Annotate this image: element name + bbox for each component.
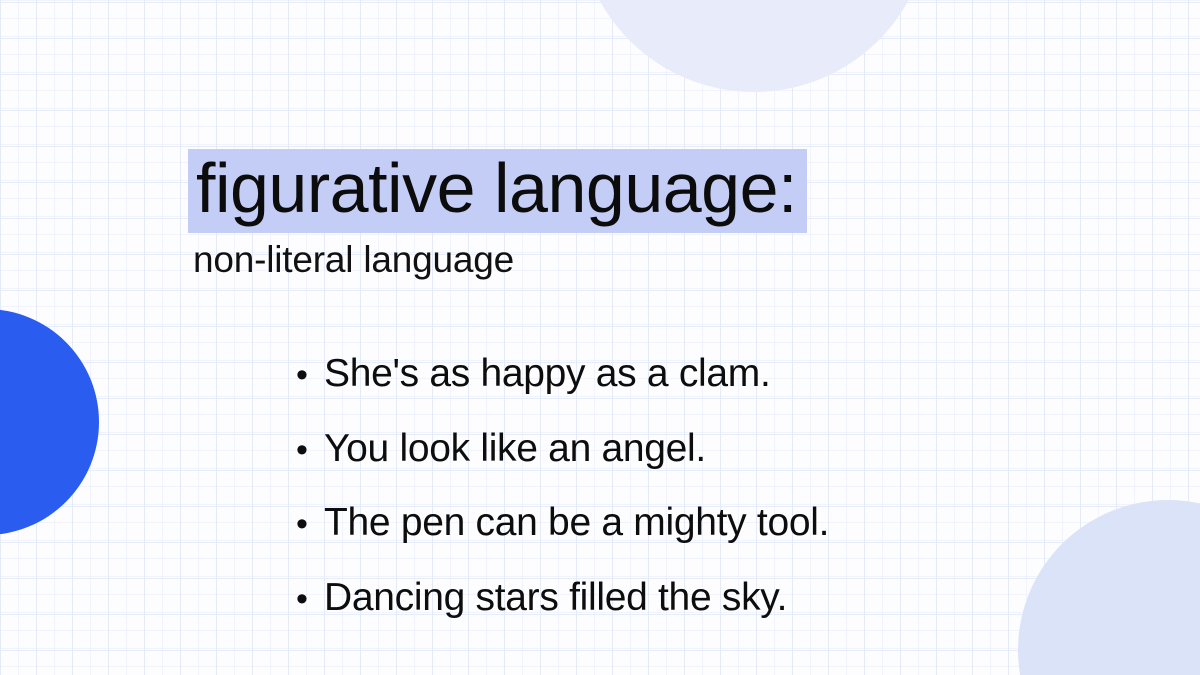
list-item: • Dancing stars filled the sky. [296, 578, 829, 653]
example-sentence-text: Dancing stars filled the sky. [324, 578, 787, 617]
bullet-point-icon: • [296, 582, 324, 616]
example-sentence-text: The pen can be a mighty tool. [324, 503, 829, 542]
list-item: • The pen can be a mighty tool. [296, 503, 829, 578]
example-sentence-list: • She's as happy as a clam. • You look l… [296, 354, 829, 652]
bullet-point-icon: • [296, 433, 324, 467]
example-sentence-text: She's as happy as a clam. [324, 354, 771, 393]
bullet-point-icon: • [296, 507, 324, 541]
bullet-point-icon: • [296, 358, 324, 392]
slide-canvas: figurative language: non-literal languag… [0, 0, 1200, 675]
list-item: • You look like an angel. [296, 429, 829, 504]
list-item: • She's as happy as a clam. [296, 354, 829, 429]
title-container: figurative language: [188, 149, 807, 233]
slide-subtitle-definition: non-literal language [193, 239, 514, 282]
slide-title-highlighted: figurative language: [188, 149, 807, 233]
example-sentence-text: You look like an angel. [324, 429, 706, 468]
slide-content: figurative language: non-literal languag… [0, 0, 1200, 675]
